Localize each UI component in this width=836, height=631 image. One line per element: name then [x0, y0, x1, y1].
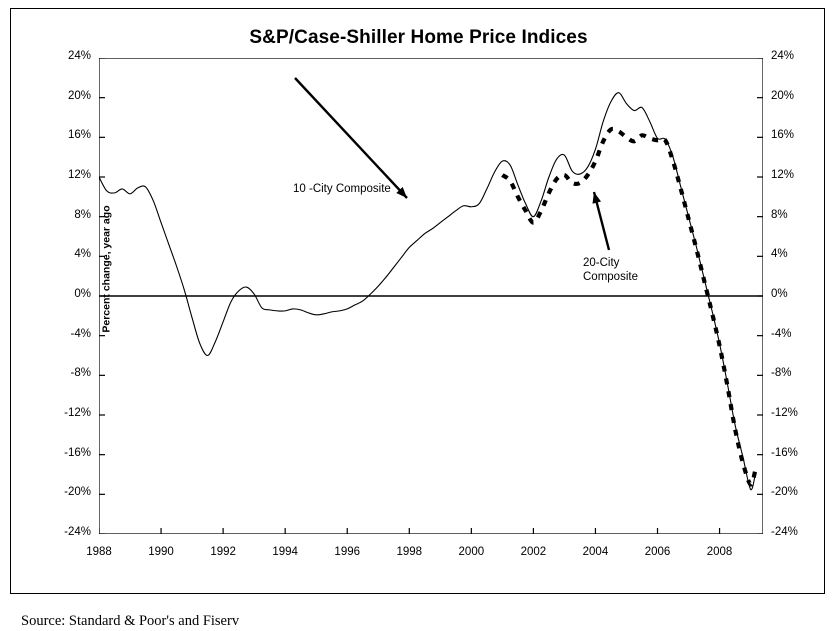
x-tick-label: 2006 — [628, 546, 688, 558]
plot-svg — [99, 58, 763, 534]
y-tick-label-left: -16% — [49, 447, 91, 459]
y-tick-label-right: -20% — [771, 486, 813, 498]
x-tick-label: 1988 — [69, 546, 129, 558]
y-tick-label-left: -20% — [49, 486, 91, 498]
y-tick-label-right: 12% — [771, 169, 813, 181]
y-axis-title-left: Percent change, year ago — [101, 205, 113, 332]
y-tick-label-left: 24% — [49, 50, 91, 62]
y-tick-label-right: -12% — [771, 407, 813, 419]
y-tick-label-right: -4% — [771, 328, 813, 340]
y-tick-label-right: -16% — [771, 447, 813, 459]
y-tick-label-left: -8% — [49, 367, 91, 379]
x-tick-label: 1990 — [131, 546, 191, 558]
annotation-20-city-composite: 20-CityComposite — [583, 256, 638, 284]
y-tick-label-left: 0% — [49, 288, 91, 300]
y-tick-label-right: 16% — [771, 129, 813, 141]
y-tick-label-left: 4% — [49, 248, 91, 260]
y-tick-label-right: -24% — [771, 526, 813, 538]
y-tick-label-right: 8% — [771, 209, 813, 221]
y-tick-label-right: 0% — [771, 288, 813, 300]
y-tick-label-left: -24% — [49, 526, 91, 538]
y-tick-label-left: 16% — [49, 129, 91, 141]
x-tick-label: 1996 — [317, 546, 377, 558]
x-tick-label: 2002 — [503, 546, 563, 558]
series-2-line — [502, 129, 755, 485]
x-tick-label: 2008 — [690, 546, 750, 558]
plot-area: Percent change, year ago Percent change,… — [99, 58, 763, 534]
y-tick-label-left: -12% — [49, 407, 91, 419]
y-tick-label-right: 4% — [771, 248, 813, 260]
annotation-10-city-composite: 10 -City Composite — [293, 182, 391, 196]
annotation-arrows — [295, 78, 609, 250]
annotation-20-city-line2: Composite — [583, 271, 638, 283]
annotation-20-city-line1: 20-City — [583, 257, 619, 269]
y-tick-label-right: 20% — [771, 90, 813, 102]
chart-frame: S&P/Case-Shiller Home Price Indices Perc… — [10, 8, 825, 594]
source-note: Source: Standard & Poor's and Fiserv — [21, 613, 239, 630]
y-tick-label-right: -8% — [771, 367, 813, 379]
data-series — [99, 93, 755, 490]
x-tick-label: 2004 — [565, 546, 625, 558]
y-tick-label-left: 8% — [49, 209, 91, 221]
y-tick-label-left: -4% — [49, 328, 91, 340]
y-tick-label-left: 12% — [49, 169, 91, 181]
series-1-line — [99, 93, 755, 490]
x-tick-label: 1994 — [255, 546, 315, 558]
x-tick-label: 1998 — [379, 546, 439, 558]
x-tick-label: 1992 — [193, 546, 253, 558]
y-tick-label-left: 20% — [49, 90, 91, 102]
y-tick-label-right: 24% — [771, 50, 813, 62]
chart-title: S&P/Case-Shiller Home Price Indices — [11, 27, 826, 49]
x-tick-label: 2000 — [441, 546, 501, 558]
